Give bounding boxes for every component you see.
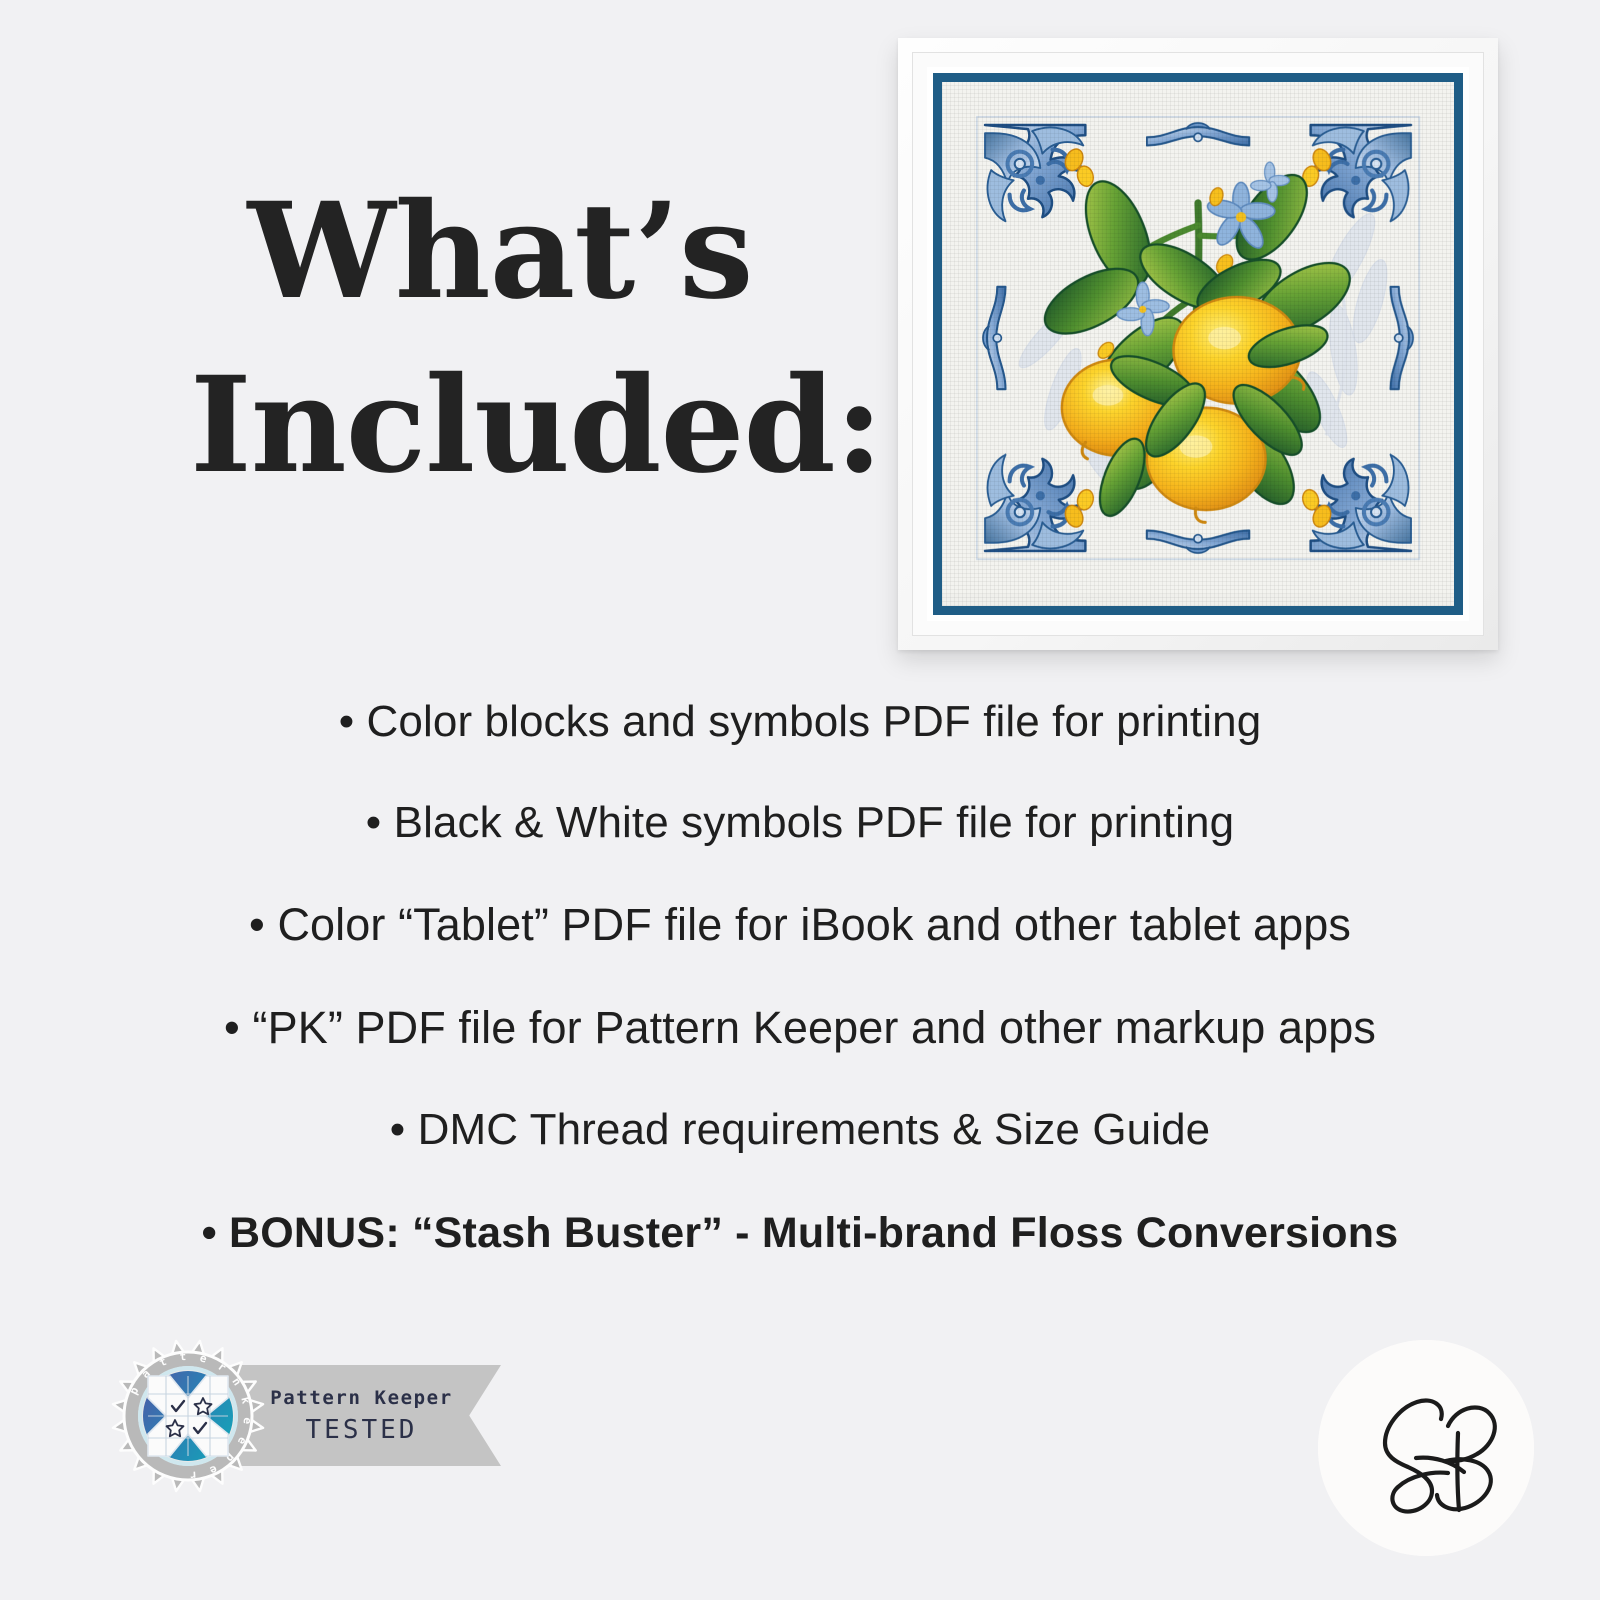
cross-stitch-inner-border [933,73,1463,615]
pattern-keeper-tested-badge: Pattern Keeper TESTED p a t t e r n k e … [108,1336,528,1516]
brand-logo-sb [1318,1340,1534,1556]
pattern-keeper-banner-line-2: TESTED [306,1415,418,1445]
page-title-line-1: What’s [190,165,810,339]
cross-stitch-artwork-image [942,82,1454,594]
list-item: • Color blocks and symbols PDF file for … [0,700,1600,744]
list-item: • Black & White symbols PDF file for pri… [0,801,1600,845]
page-title: What’s Included: [190,165,810,513]
list-item: • Color “Tablet” PDF file for iBook and … [0,902,1600,947]
list-item: • DMC Thread requirements & Size Guide [0,1108,1600,1152]
pattern-keeper-rosette-icon: p a t t e r n k e e p e r [108,1336,268,1496]
list-item: • “PK” PDF file for Pattern Keeper and o… [0,1005,1600,1050]
list-item-bonus: • BONUS: “Stash Buster” - Multi-brand Fl… [0,1212,1600,1255]
pattern-keeper-banner-line-1: Pattern Keeper [270,1387,453,1409]
framed-artwork [898,38,1498,650]
pattern-keeper-banner: Pattern Keeper TESTED [236,1365,501,1466]
page-title-line-2: Included: [190,339,810,513]
frame-mat [927,67,1469,621]
frame-bevel [912,52,1484,636]
included-items-list: • Color blocks and symbols PDF file for … [0,700,1600,1255]
